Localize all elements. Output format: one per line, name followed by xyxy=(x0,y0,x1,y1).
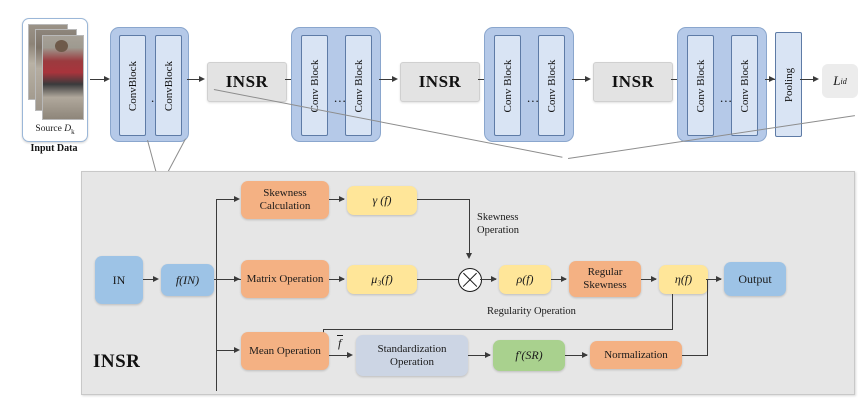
multiply-operator xyxy=(458,268,482,292)
node-matrix-operation[interactable]: Matrix Operation xyxy=(241,260,329,298)
conv-block-first: ConvBlock xyxy=(119,35,146,136)
node-skewness-calculation[interactable]: Skewness Calculation xyxy=(241,181,329,219)
conv-block-first: Conv Block xyxy=(301,35,328,136)
input-data-card: Source Dk xyxy=(22,18,88,142)
branch-to-mean-op-head xyxy=(234,347,240,353)
normalization-to-output-vertical xyxy=(707,279,708,355)
branch-to-matrix-op-head xyxy=(234,276,240,282)
node-mean-operation[interactable]: Mean Operation xyxy=(241,332,329,370)
node-regular-skewness[interactable]: Regular Skewness xyxy=(569,261,641,297)
regularity-horizontal xyxy=(323,329,673,330)
conv-stage-2: Conv Block ... Conv Block xyxy=(291,27,381,142)
node-rho-f[interactable]: ρ(f) xyxy=(499,265,551,294)
arrow-multiply-to-rho-head xyxy=(491,276,497,282)
arrow-in-to-fin-head xyxy=(153,276,159,282)
node-f-in[interactable]: f(IN) xyxy=(161,264,214,296)
conv-block-first: Conv Block xyxy=(687,35,714,136)
gamma-to-multiply-horizontal xyxy=(417,199,470,200)
pedestrian-image-stack xyxy=(28,24,82,118)
arrow-matrixop-to-mu3-head xyxy=(339,276,345,282)
conv-stage-1: ConvBlock ... ConvBlock xyxy=(110,27,189,142)
annotation-regularity-operation: Regularity Operation xyxy=(487,306,576,319)
identity-loss-chip: Lid xyxy=(822,64,858,98)
arrow-skewcalc-to-gamma-head xyxy=(339,196,345,202)
arrow-fprime-to-normalization-head xyxy=(582,352,588,358)
node-normalization[interactable]: Normalization xyxy=(590,341,682,369)
insr-detail-title: INSR xyxy=(93,351,140,373)
conv-block-last: Conv Block xyxy=(538,35,565,136)
node-mu3-f[interactable]: μ₃(f) xyxy=(347,265,417,294)
node-gamma-f[interactable]: γ (f) xyxy=(347,186,417,215)
arrow-to-output-head xyxy=(716,276,722,282)
normalization-to-output-horizontal xyxy=(682,355,708,356)
branch-to-skewness-calc-head xyxy=(234,196,240,202)
pedestrian-photo-front xyxy=(42,35,84,120)
pooling-block: Pooling xyxy=(775,32,802,137)
input-data-caption: Input Data xyxy=(12,143,96,154)
label-f-bar: f xyxy=(338,336,341,351)
arrow-stage1-to-insr1-head xyxy=(199,76,205,82)
figure-canvas: Source Dk Input Data ConvBlock ... ConvB… xyxy=(0,0,865,404)
insr-module-3[interactable]: INSR xyxy=(593,62,673,102)
insr-module-2[interactable]: INSR xyxy=(400,62,480,102)
bus-fanout-vertical xyxy=(216,199,217,391)
annotation-skewness-operation: Skewness Operation xyxy=(477,212,519,237)
eta-down-vertical xyxy=(672,294,673,330)
node-f-prime-sr[interactable]: f′(SR) xyxy=(493,340,565,371)
arrow-mu3-to-multiply-line xyxy=(417,279,458,280)
arrow-regskew-to-eta-head xyxy=(651,276,657,282)
arrow-meanop-to-standardization-head xyxy=(347,352,353,358)
node-output[interactable]: Output xyxy=(724,262,786,296)
node-standardization-operation[interactable]: Standardization Operation xyxy=(356,335,468,376)
node-in[interactable]: IN xyxy=(95,256,143,304)
arrow-pooling-to-loss-head xyxy=(813,76,819,82)
conv-block-first: Conv Block xyxy=(494,35,521,136)
arrow-standardization-to-fprime-head xyxy=(485,352,491,358)
conv-block-last: ConvBlock xyxy=(155,35,182,136)
conv-stage-4: Conv Block ... Conv Block xyxy=(677,27,767,142)
conv-stage-3: Conv Block ... Conv Block xyxy=(484,27,574,142)
arrow-stage2-to-insr2-head xyxy=(392,76,398,82)
gamma-to-multiply-vertical xyxy=(469,199,470,256)
conv-block-last: Conv Block xyxy=(731,35,758,136)
node-eta-f[interactable]: η(f) xyxy=(659,265,708,294)
arrow-stage3-to-insr3-head xyxy=(585,76,591,82)
gamma-to-multiply-head xyxy=(466,253,472,259)
conv-block-last: Conv Block xyxy=(345,35,372,136)
arrow-rho-to-regskew-head xyxy=(561,276,567,282)
source-domain-label: Source Dk xyxy=(23,124,87,136)
